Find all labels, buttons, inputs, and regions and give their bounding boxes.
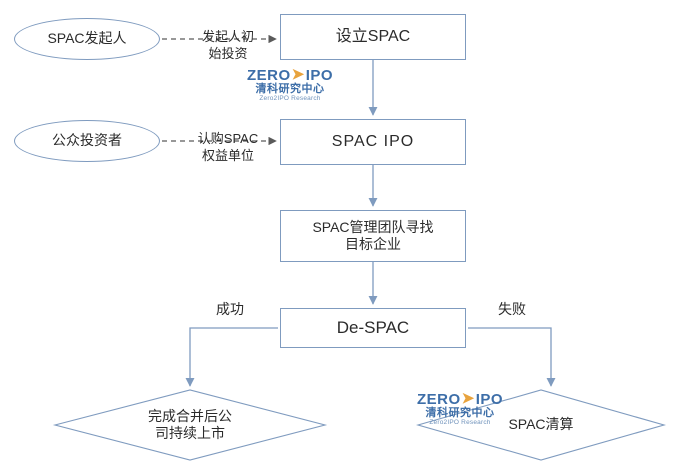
watermark-top-wordmark: ZERO ➤ IPO (248, 68, 332, 83)
watermark-zero-text: ZERO (417, 392, 461, 407)
watermark-top-en: Zero2IPO Research (248, 96, 332, 103)
node-merged-listing-label: 完成合并后公 司持续上市 (148, 408, 232, 443)
node-sponsor[interactable]: SPAC发起人 (14, 18, 160, 60)
node-public-investors-label: 公众投资者 (52, 132, 122, 150)
node-setup-spac-label: 设立SPAC (336, 27, 410, 47)
watermark-bottom-wordmark: ZERO ➤ IPO (418, 392, 502, 407)
arrow-icon: ➤ (292, 67, 305, 82)
edge-label-success-text: 成功 (216, 301, 244, 317)
node-spac-ipo[interactable]: SPAC IPO (280, 119, 466, 165)
watermark-ipo-text: IPO (476, 392, 503, 407)
watermark-top-cn: 清科研究中心 (248, 84, 332, 95)
connector-despac-to-liquidate (468, 328, 551, 386)
watermark-bottom-en: Zero2IPO Research (418, 420, 502, 427)
connector-despac-to-merged (190, 328, 278, 386)
edge-label-subscribe-units: 认购SPAC 权益单位 (182, 114, 274, 165)
node-team-search[interactable]: SPAC管理团队寻找 目标企业 (280, 210, 466, 262)
watermark-zero2ipo-top: ZERO ➤ IPO 清科研究中心 Zero2IPO Research (248, 68, 332, 103)
watermark-zero2ipo-bottom: ZERO ➤ IPO 清科研究中心 Zero2IPO Research (418, 392, 502, 427)
edge-label-failure-text: 失败 (498, 301, 526, 317)
node-team-search-label: SPAC管理团队寻找 目标企业 (312, 219, 433, 254)
node-merged-listing[interactable]: 完成合并后公 司持续上市 (80, 392, 300, 458)
edge-label-sponsor-investment: 发起人初 始投资 (186, 12, 270, 63)
node-public-investors[interactable]: 公众投资者 (14, 120, 160, 162)
arrow-icon: ➤ (462, 391, 475, 406)
node-sponsor-label: SPAC发起人 (47, 30, 126, 48)
node-setup-spac[interactable]: 设立SPAC (280, 14, 466, 60)
node-de-spac-label: De-SPAC (337, 317, 409, 338)
edge-label-sponsor-investment-text: 发起人初 始投资 (202, 29, 254, 61)
watermark-ipo-text: IPO (306, 68, 333, 83)
node-de-spac[interactable]: De-SPAC (280, 308, 466, 348)
watermark-zero-text: ZERO (247, 68, 291, 83)
watermark-bottom-cn: 清科研究中心 (418, 408, 502, 419)
edge-label-subscribe-units-text: 认购SPAC 权益单位 (198, 131, 258, 163)
edge-label-success: 成功 (210, 300, 250, 318)
node-spac-liquidation-label: SPAC清算 (508, 416, 573, 434)
edge-label-failure: 失败 (492, 300, 532, 318)
diagram-canvas: SPAC发起人 设立SPAC 公众投资者 SPAC IPO SPAC管理团队寻找… (0, 0, 700, 461)
node-spac-ipo-label: SPAC IPO (332, 132, 414, 152)
